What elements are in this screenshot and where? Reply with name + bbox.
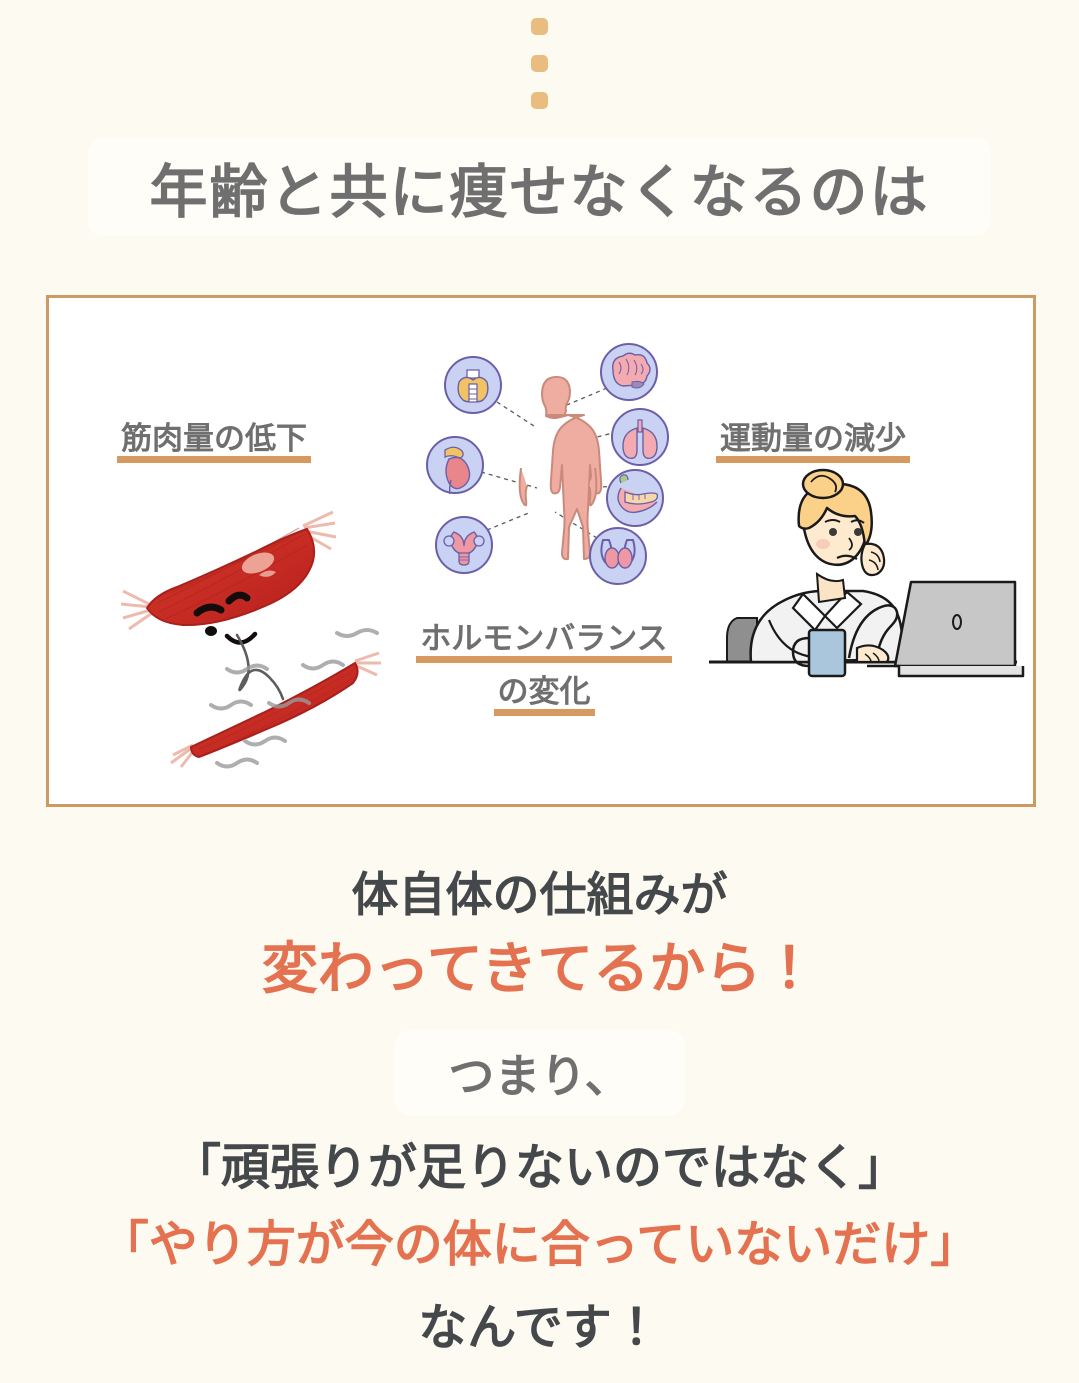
title-banner: 年齢と共に痩せなくなるのは <box>88 138 991 236</box>
message-line-3: なんです！ <box>0 1288 1079 1359</box>
organ-testes <box>590 528 646 584</box>
decorative-dots <box>0 18 1079 109</box>
organ-lungs <box>612 409 668 465</box>
label-muscle-loss: 筋肉量の低下 <box>121 420 307 461</box>
message-line-1: 体自体の仕組みが <box>0 856 1079 925</box>
organ-thyroid <box>445 357 501 413</box>
label-hormone-change-group: ホルモンバランス の変化 <box>382 620 706 714</box>
organ-uterus-ovaries <box>436 517 492 573</box>
dot-icon-2 <box>531 55 548 72</box>
label-hormone-change-line2: の変化 <box>498 673 591 714</box>
page-title: 年齢と共に痩せなくなるのは <box>149 145 929 229</box>
message-quote-1: 「頑張りが足りないのではなく」 <box>0 1128 1079 1199</box>
organ-pancreas <box>607 470 663 526</box>
message-line-2: 変わってきてるから！ <box>0 924 1079 1005</box>
dot-icon-1 <box>531 18 548 35</box>
label-hormone-change-line1: ホルモンバランス <box>420 620 667 661</box>
muscle-atrophy-illustration <box>107 473 407 773</box>
message-quote-2: 「やり方が今の体に合っていないだけ」 <box>0 1205 1079 1276</box>
label-exercise-decrease: 運動量の減少 <box>720 420 906 461</box>
hormone-body-organs-illustration <box>429 340 679 595</box>
causes-card: 筋肉量の低下 運動量の減少 ホルモンバランス の変化 <box>46 295 1036 807</box>
tsumari-banner: つまり、 <box>394 1030 684 1116</box>
tired-woman-laptop-illustration <box>699 470 1029 700</box>
infographic-page: 年齢と共に痩せなくなるのは 筋肉量の低下 運動量の減少 ホルモンバランス の変化 <box>0 0 1079 1383</box>
dot-icon-3 <box>531 92 548 109</box>
organ-brain <box>601 344 657 400</box>
tsumari-label: つまり、 <box>448 1040 630 1106</box>
organ-adrenal-kidney <box>427 437 483 494</box>
